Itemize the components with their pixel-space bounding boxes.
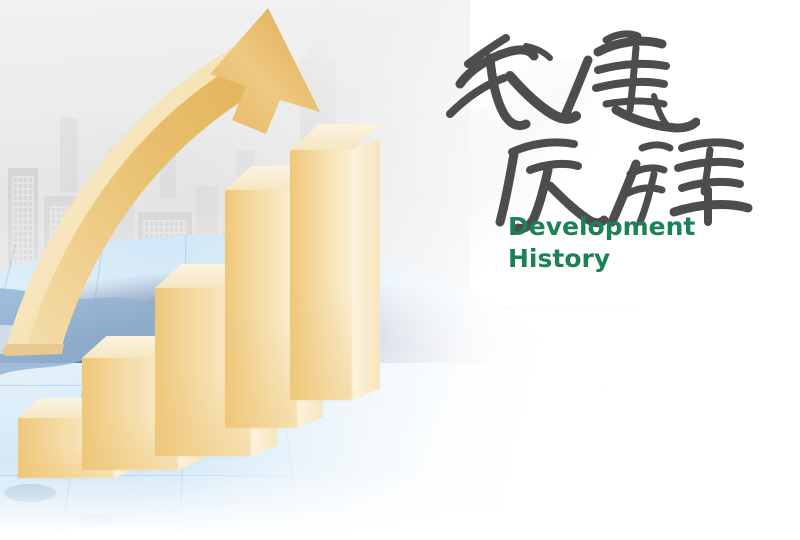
page-title <box>430 18 760 240</box>
title-cn-line1 <box>430 18 700 138</box>
arrow-body <box>6 44 266 348</box>
title-en-line2: History <box>508 243 695 275</box>
arrow-head <box>210 8 320 134</box>
growth-arrow-icon <box>0 0 400 380</box>
arrow-tail <box>2 344 64 356</box>
title-en-block: Development History <box>508 211 695 275</box>
banner-hero: Development History <box>0 0 800 540</box>
title-en-line1: Development <box>508 211 695 243</box>
